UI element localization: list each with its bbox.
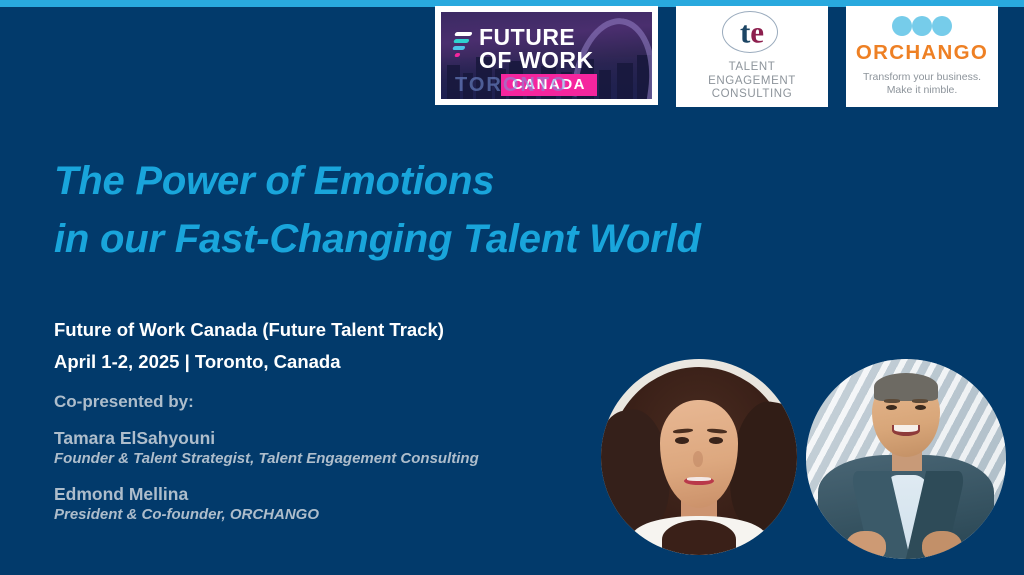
- slide-title: The Power of Emotions in our Fast-Changi…: [54, 152, 701, 268]
- future-of-work-wordmark: FUTURE OF WORK: [479, 26, 594, 72]
- eyebrow-shape: [912, 399, 928, 403]
- te-wordmark: TALENT ENGAGEMENT CONSULTING: [708, 61, 796, 102]
- presenter-name: Tamara ElSahyouni: [54, 428, 479, 449]
- te-name-line3: CONSULTING: [708, 88, 796, 102]
- orchango-tagline-line2: Make it nimble.: [856, 84, 988, 97]
- presentation-slide: FUTURE OF WORK CANADA TORONTO te TALENT …: [0, 0, 1024, 575]
- presenter-entry: Tamara ElSahyouni Founder & Talent Strat…: [54, 428, 479, 469]
- orchango-tagline-line1: Transform your business.: [856, 71, 988, 84]
- hair-shape: [874, 373, 938, 401]
- orchango-tagline: Transform your business. Make it nimble.: [856, 71, 988, 97]
- te-monogram-icon: te: [709, 11, 795, 55]
- te-name-line1: TALENT: [708, 61, 796, 75]
- eyebrow-shape: [884, 399, 900, 403]
- presenter-entry: Edmond Mellina President & Co-founder, O…: [54, 484, 479, 525]
- teeth-shape: [687, 477, 711, 481]
- logo-talent-engagement-consulting: te TALENT ENGAGEMENT CONSULTING: [676, 6, 828, 107]
- te-monogram-t: t: [740, 15, 750, 50]
- presenter-role: President & Co-founder, ORCHANGO: [54, 505, 479, 525]
- co-presented-by-label: Co-presented by:: [54, 392, 479, 412]
- orchango-dot: [932, 16, 952, 36]
- presenter-role: Founder & Talent Strategist, Talent Enga…: [54, 449, 479, 469]
- presenter-photo-tamara: [601, 359, 797, 555]
- sponsor-logo-row: FUTURE OF WORK CANADA TORONTO te TALENT …: [435, 6, 998, 107]
- presenter-photo-edmond: [806, 359, 1006, 559]
- fow-line1: FUTURE: [479, 26, 594, 49]
- hair-shape: [662, 520, 736, 555]
- swoosh-icon: [452, 32, 472, 58]
- orchango-dots-icon: [892, 16, 952, 36]
- nose-shape: [693, 451, 703, 467]
- logo-orchango: ORCHANGO Transform your business. Make i…: [846, 6, 998, 107]
- toronto-watermark: TORONTO: [455, 74, 568, 97]
- event-date-location: April 1-2, 2025 | Toronto, Canada: [54, 346, 444, 378]
- te-monogram-e: e: [750, 15, 764, 50]
- te-name-line2: ENGAGEMENT: [708, 75, 796, 89]
- eye-shape: [915, 405, 926, 410]
- hand-shape: [922, 531, 962, 559]
- teeth-shape: [894, 425, 918, 431]
- orchango-dot: [892, 16, 912, 36]
- event-details: Future of Work Canada (Future Talent Tra…: [54, 314, 444, 378]
- orchango-dot: [912, 16, 932, 36]
- orchango-wordmark: ORCHANGO: [856, 43, 988, 64]
- eye-shape: [709, 437, 723, 444]
- presenter-name: Edmond Mellina: [54, 484, 479, 505]
- future-of-work-logo-artwork: FUTURE OF WORK CANADA TORONTO: [441, 12, 652, 99]
- presenters-block: Co-presented by: Tamara ElSahyouni Found…: [54, 392, 479, 540]
- fow-line2: OF WORK: [479, 49, 594, 72]
- logo-future-of-work-canada: FUTURE OF WORK CANADA TORONTO: [435, 6, 658, 105]
- event-name: Future of Work Canada (Future Talent Tra…: [54, 314, 444, 346]
- eye-shape: [886, 405, 897, 410]
- hand-shape: [846, 531, 886, 559]
